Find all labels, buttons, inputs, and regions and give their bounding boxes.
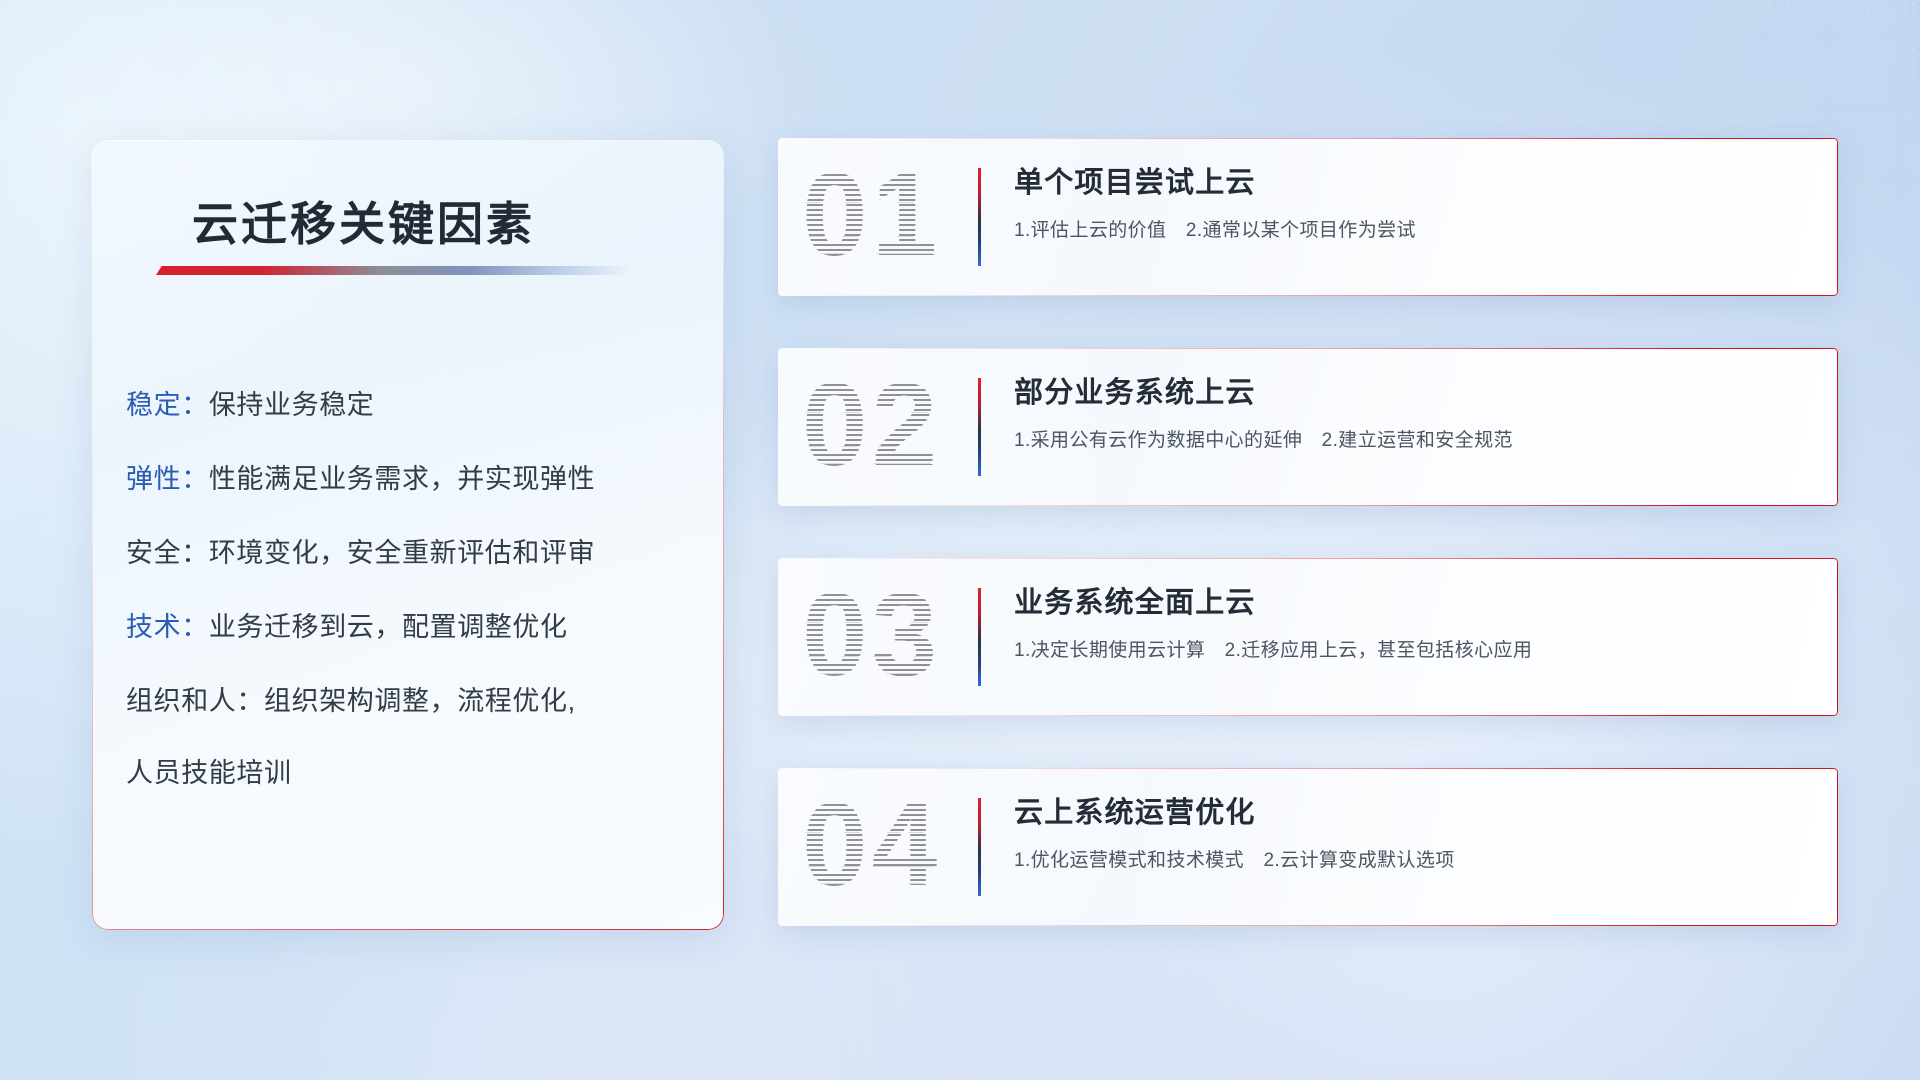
fact-key: 组织和人：: [126, 686, 264, 716]
stage-card[interactable]: 03 业务系统全面上云 1.决定长期使用云计算 2.迁移应用上云，甚至包括核心应…: [778, 558, 1838, 716]
stage-number-watermark: 02: [802, 348, 941, 506]
card-body: 单个项目尝试上云 1.评估上云的价值 2.通常以某个项目作为尝试: [1014, 160, 1810, 246]
list-item-continuation: 人员技能培训: [126, 738, 696, 808]
fact-value: 保持业务稳定: [209, 390, 375, 420]
fact-value: 组织架构调整，流程优化,: [264, 686, 576, 716]
accent-bar: [978, 378, 981, 476]
stage-number-watermark: 04: [802, 768, 941, 926]
fact-value: 人员技能培训: [126, 758, 292, 788]
card-subtitle: 1.采用公有云作为数据中心的延伸 2.建立运营和安全规范: [1014, 426, 1810, 456]
card-title: 云上系统运营优化: [1014, 790, 1810, 836]
slide-canvas: 云迁移关键因素 稳定：保持业务稳定 弹性：性能满足业务需求，并实现弹性 安全：环…: [0, 0, 1920, 1080]
stage-card[interactable]: 04 云上系统运营优化 1.优化运营模式和技术模式 2.云计算变成默认选项: [778, 768, 1838, 926]
stage-number-watermark: 03: [802, 558, 941, 716]
list-item: 组织和人：组织架构调整，流程优化,: [126, 664, 696, 738]
fact-value: 业务迁移到云，配置调整优化: [209, 612, 568, 642]
card-body: 云上系统运营优化 1.优化运营模式和技术模式 2.云计算变成默认选项: [1014, 790, 1810, 876]
list-item: 安全：环境变化，安全重新评估和评审: [126, 516, 696, 590]
stage-number-watermark: 01: [802, 138, 941, 296]
page-title: 云迁移关键因素: [192, 188, 535, 254]
accent-bar: [978, 798, 981, 896]
fact-key: 安全：: [126, 538, 209, 568]
card-body: 部分业务系统上云 1.采用公有云作为数据中心的延伸 2.建立运营和安全规范: [1014, 370, 1810, 456]
fact-key: 稳定：: [126, 390, 209, 420]
accent-bar: [978, 168, 981, 266]
card-title: 部分业务系统上云: [1014, 370, 1810, 416]
fact-key: 弹性：: [126, 464, 209, 494]
fact-value: 性能满足业务需求，并实现弹性: [209, 464, 595, 494]
card-title: 业务系统全面上云: [1014, 580, 1810, 626]
card-body: 业务系统全面上云 1.决定长期使用云计算 2.迁移应用上云，甚至包括核心应用: [1014, 580, 1810, 666]
stage-cards: 01 单个项目尝试上云 1.评估上云的价值 2.通常以某个项目作为尝试 02 部…: [778, 138, 1838, 978]
stage-card[interactable]: 01 单个项目尝试上云 1.评估上云的价值 2.通常以某个项目作为尝试: [778, 138, 1838, 296]
accent-bar: [978, 588, 981, 686]
card-subtitle: 1.优化运营模式和技术模式 2.云计算变成默认选项: [1014, 846, 1810, 876]
list-item: 技术：业务迁移到云，配置调整优化: [126, 590, 696, 664]
stage-card[interactable]: 02 部分业务系统上云 1.采用公有云作为数据中心的延伸 2.建立运营和安全规范: [778, 348, 1838, 506]
fact-key: 技术：: [126, 612, 209, 642]
list-item: 稳定：保持业务稳定: [126, 368, 696, 442]
card-title: 单个项目尝试上云: [1014, 160, 1810, 206]
card-subtitle: 1.评估上云的价值 2.通常以某个项目作为尝试: [1014, 216, 1810, 246]
card-subtitle: 1.决定长期使用云计算 2.迁移应用上云，甚至包括核心应用: [1014, 636, 1810, 666]
key-factors-list: 稳定：保持业务稳定 弹性：性能满足业务需求，并实现弹性 安全：环境变化，安全重新…: [126, 368, 696, 808]
title-underline-rule: [156, 266, 630, 275]
fact-value: 环境变化，安全重新评估和评审: [209, 538, 595, 568]
list-item: 弹性：性能满足业务需求，并实现弹性: [126, 442, 696, 516]
key-factors-panel: 云迁移关键因素 稳定：保持业务稳定 弹性：性能满足业务需求，并实现弹性 安全：环…: [92, 140, 724, 930]
